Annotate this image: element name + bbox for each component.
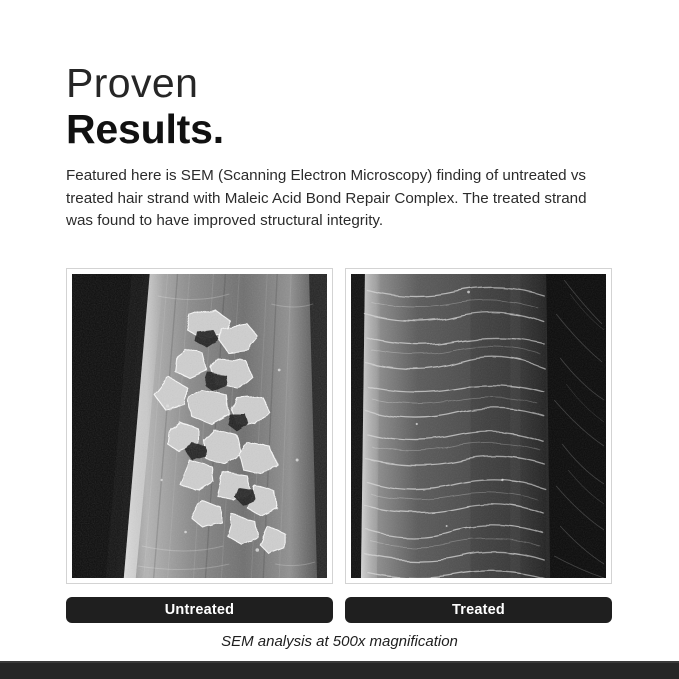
page-title: Proven Results. — [66, 60, 626, 152]
comparison-panels — [66, 268, 612, 584]
sem-untreated-graphic — [72, 274, 327, 578]
body-paragraph: Featured here is SEM (Scanning Electron … — [66, 165, 616, 233]
panel-untreated — [66, 268, 333, 584]
magnification-caption: SEM analysis at 500x magnification — [0, 633, 679, 650]
sem-image-treated — [351, 274, 606, 578]
title-line-proven: Proven — [66, 60, 626, 106]
title-line-results: Results. — [66, 106, 626, 152]
sem-treated-graphic — [351, 274, 606, 578]
label-untreated[interactable]: Untreated — [66, 597, 333, 623]
panel-treated — [345, 268, 612, 584]
results-page: Proven Results. Featured here is SEM (Sc… — [0, 0, 679, 679]
bottom-bar — [0, 661, 679, 679]
sem-image-untreated — [72, 274, 327, 578]
panel-labels: Untreated Treated — [66, 597, 612, 623]
bottom-bar-highlight — [0, 661, 679, 663]
label-treated[interactable]: Treated — [345, 597, 612, 623]
